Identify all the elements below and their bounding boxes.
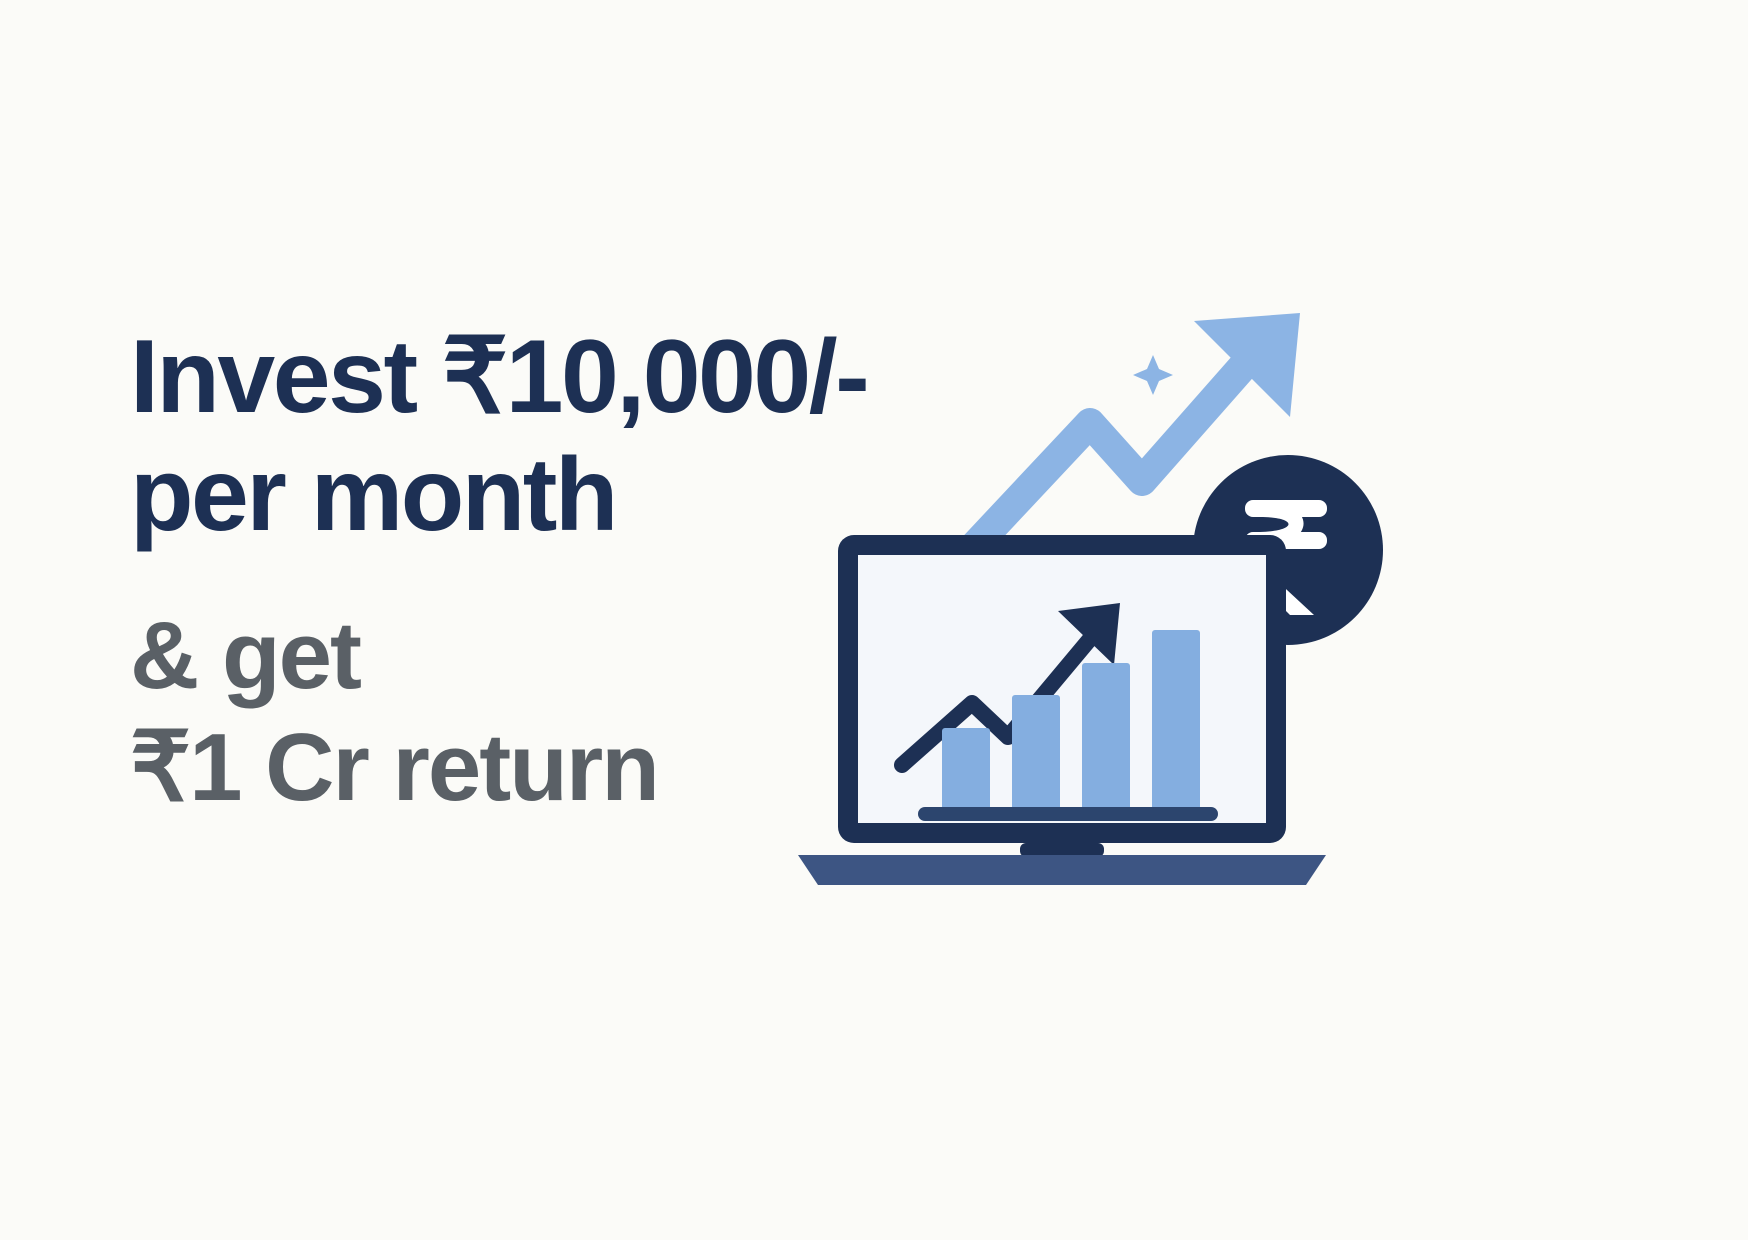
laptop-hinge-notch	[1020, 843, 1104, 857]
poster-canvas: Invest ₹10,000/- per month & get ₹1 Cr r…	[0, 0, 1748, 1240]
bar-4	[1152, 630, 1200, 812]
sparkle-icon	[1133, 355, 1173, 395]
laptop-base	[798, 855, 1326, 885]
illustration-laptop-growth	[790, 285, 1410, 905]
laptop-screen-frame	[838, 535, 1286, 843]
chart-baseline	[918, 807, 1218, 821]
laptop-screen	[858, 555, 1266, 823]
bar-1	[942, 728, 990, 812]
bar-2	[1012, 695, 1060, 812]
bar-3	[1082, 663, 1130, 812]
